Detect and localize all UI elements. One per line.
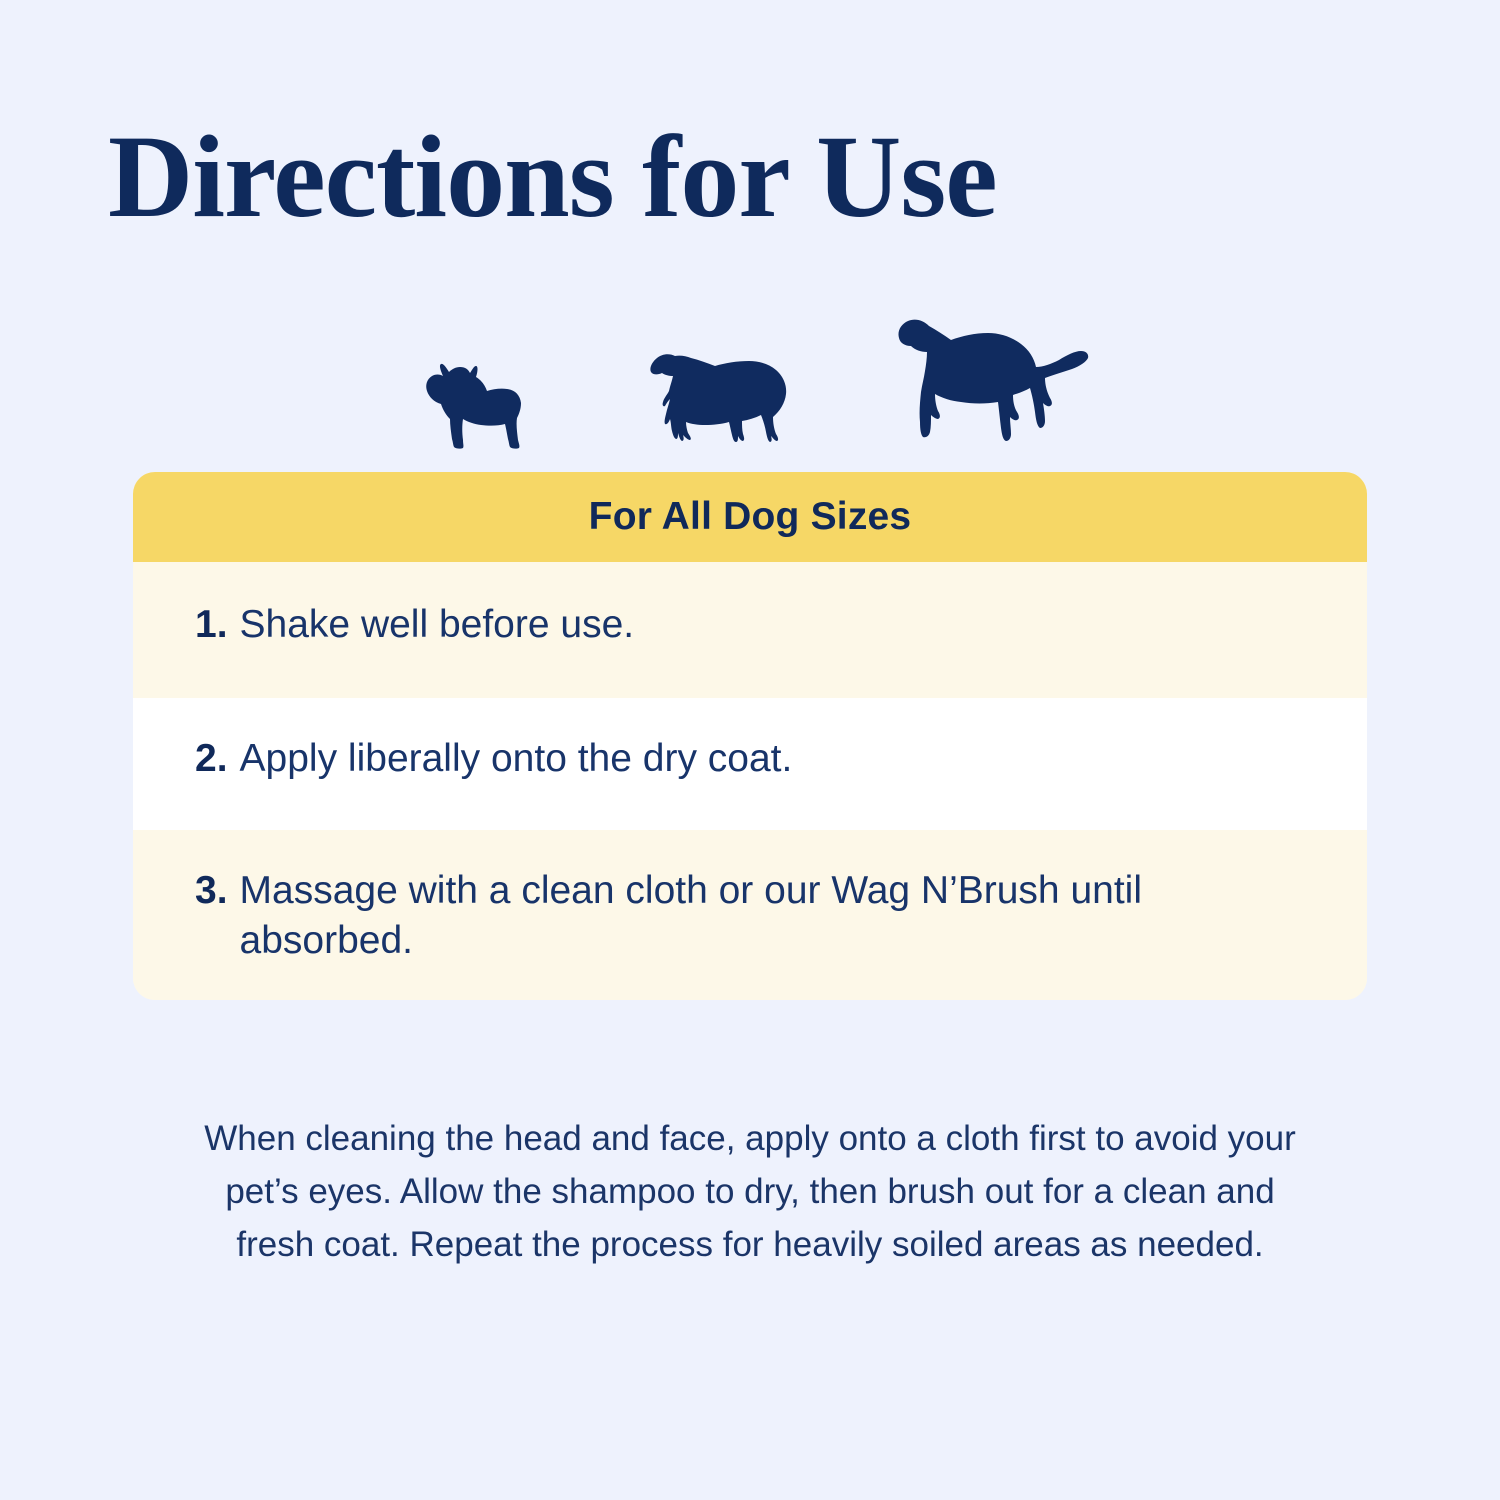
step-row: 1. Shake well before use. <box>133 562 1367 698</box>
step-number: 3. <box>195 866 228 916</box>
small-dog-silhouette-icon <box>415 362 533 450</box>
step-number: 2. <box>195 734 228 784</box>
step-row: 3. Massage with a clean cloth or our Wag… <box>133 830 1367 1000</box>
step-row: 2. Apply liberally onto the dry coat. <box>133 698 1367 830</box>
directions-for-use-page: Directions for Use For All Dog Sizes 1. … <box>0 0 1500 1500</box>
step-text: Apply liberally onto the dry coat. <box>240 734 1315 784</box>
footer-note: When cleaning the head and face, apply o… <box>190 1112 1310 1272</box>
card-header-title: For All Dog Sizes <box>589 495 912 539</box>
page-title: Directions for Use <box>108 118 997 236</box>
step-text: Massage with a clean cloth or our Wag N’… <box>240 866 1315 966</box>
step-text: Shake well before use. <box>240 600 1315 650</box>
step-number: 1. <box>195 600 228 650</box>
dog-size-illustration-row <box>0 300 1500 450</box>
card-header: For All Dog Sizes <box>133 472 1367 562</box>
large-dog-silhouette-icon <box>893 310 1093 450</box>
medium-dog-silhouette-icon <box>645 338 803 450</box>
instruction-card: For All Dog Sizes 1. Shake well before u… <box>133 472 1367 1000</box>
